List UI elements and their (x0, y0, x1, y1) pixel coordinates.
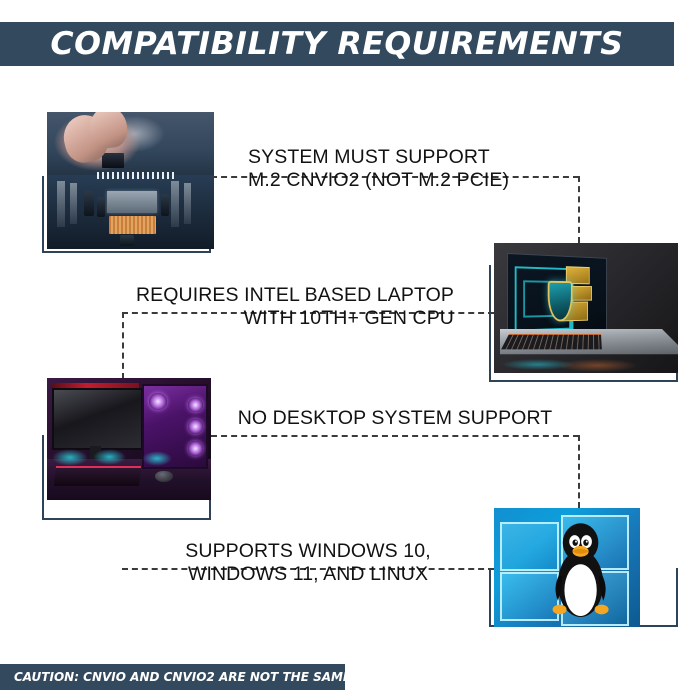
caption-req-no-desktop: NO DESKTOP SYSTEM SUPPORT (224, 407, 566, 430)
windows-linux-os-photo (494, 508, 640, 627)
tux-penguin-icon (547, 519, 614, 621)
caption-line: M.2 CNVIO2 (NOT M.2 PCIE) (248, 169, 509, 192)
compatibility-requirements-infographic: COMPATIBILITY REQUIREMENTS SYSTEM MUST S… (0, 0, 700, 700)
laptop-cyber-shield-photo (494, 243, 678, 373)
connector-dash-3-horizontal (211, 435, 579, 437)
caption-line: REQUIRES INTEL BASED LAPTOP (122, 284, 454, 307)
photo-frame-os-right (676, 568, 678, 627)
connector-dash-3-vertical (578, 435, 580, 508)
caption-line: SUPPORTS WINDOWS 10, (122, 540, 494, 563)
caption-line: WINDOWS 11, AND LINUX (122, 563, 494, 586)
caption-line: WITH 10TH+ GEN CPU (122, 307, 454, 330)
header-banner: COMPATIBILITY REQUIREMENTS (0, 22, 674, 66)
caption-req-os-support: SUPPORTS WINDOWS 10, WINDOWS 11, AND LIN… (122, 540, 494, 586)
rgb-gaming-desktop-photo (47, 378, 211, 500)
motherboard-cpu-install-photo (47, 112, 214, 249)
caption-req-intel-laptop: REQUIRES INTEL BASED LAPTOP WITH 10TH+ G… (122, 284, 454, 330)
caption-line: SYSTEM MUST SUPPORT (248, 146, 509, 169)
page-title: COMPATIBILITY REQUIREMENTS (50, 26, 623, 62)
connector-dash-1-vertical (578, 176, 580, 243)
caution-text: CAUTION: CNVIO AND CNVIO2 ARE NOT THE SA… (0, 670, 351, 684)
caution-banner: CAUTION: CNVIO AND CNVIO2 ARE NOT THE SA… (0, 664, 345, 690)
caption-req-cnvio2: SYSTEM MUST SUPPORT M.2 CNVIO2 (NOT M.2 … (248, 146, 509, 192)
caption-line: NO DESKTOP SYSTEM SUPPORT (224, 407, 566, 430)
